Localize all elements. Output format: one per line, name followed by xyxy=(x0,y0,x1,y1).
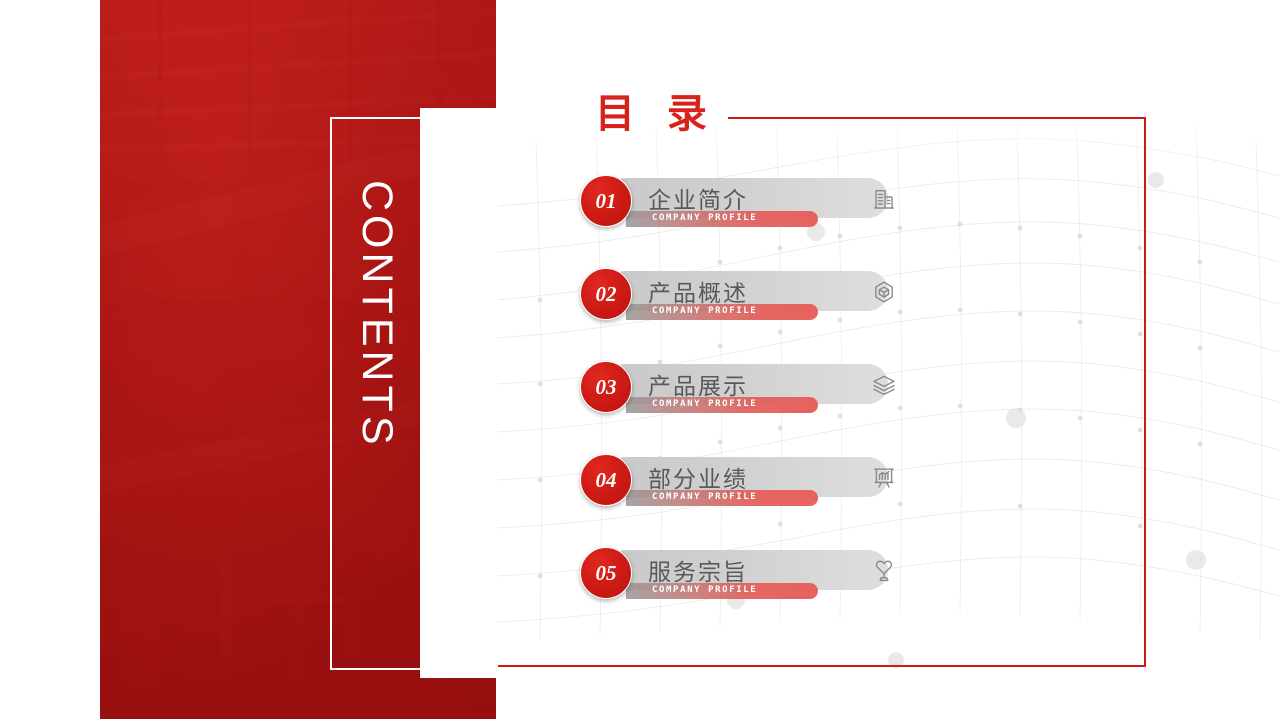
toc-item-01[interactable]: COMPANY PROFILE 01 企业简介 xyxy=(580,175,1140,268)
toc-item-04[interactable]: COMPANY PROFILE 04 部分业绩 xyxy=(580,454,1140,547)
building-icon xyxy=(872,187,896,211)
toc-item-02[interactable]: COMPANY PROFILE 02 产品概述 xyxy=(580,268,1140,361)
toc-label: 企业简介 xyxy=(648,181,748,215)
toc-number: 02 xyxy=(581,269,631,319)
hexagon-box-icon xyxy=(872,280,896,304)
page-title: 目 录 xyxy=(595,92,716,136)
frame-left-gap-mask xyxy=(420,108,498,678)
toc-number: 04 xyxy=(581,455,631,505)
toc-label: 部分业绩 xyxy=(648,460,748,494)
slide-canvas: CONTENTS 目 录 COMPANY PROFILE 01 企业简介 xyxy=(0,0,1279,719)
toc-number-badge: 03 xyxy=(580,361,632,413)
heart-award-icon xyxy=(872,559,896,583)
toc-number-badge: 04 xyxy=(580,454,632,506)
toc-label: 产品展示 xyxy=(648,367,748,401)
toc-number: 03 xyxy=(581,362,631,412)
presentation-chart-icon xyxy=(872,466,896,490)
toc-number-badge: 05 xyxy=(580,547,632,599)
toc-number: 05 xyxy=(581,548,631,598)
layers-icon xyxy=(872,373,896,397)
toc-number-badge: 02 xyxy=(580,268,632,320)
toc-item-03[interactable]: COMPANY PROFILE 03 产品展示 xyxy=(580,361,1140,454)
toc-label: 服务宗旨 xyxy=(648,553,748,587)
toc-item-05[interactable]: COMPANY PROFILE 05 服务宗旨 xyxy=(580,547,1140,640)
toc-number-badge: 01 xyxy=(580,175,632,227)
contents-vertical-label: CONTENTS xyxy=(355,180,398,410)
toc-list: COMPANY PROFILE 01 企业简介 COMPANY PROFILE xyxy=(580,175,1140,640)
toc-label: 产品概述 xyxy=(648,274,748,308)
toc-number: 01 xyxy=(581,176,631,226)
